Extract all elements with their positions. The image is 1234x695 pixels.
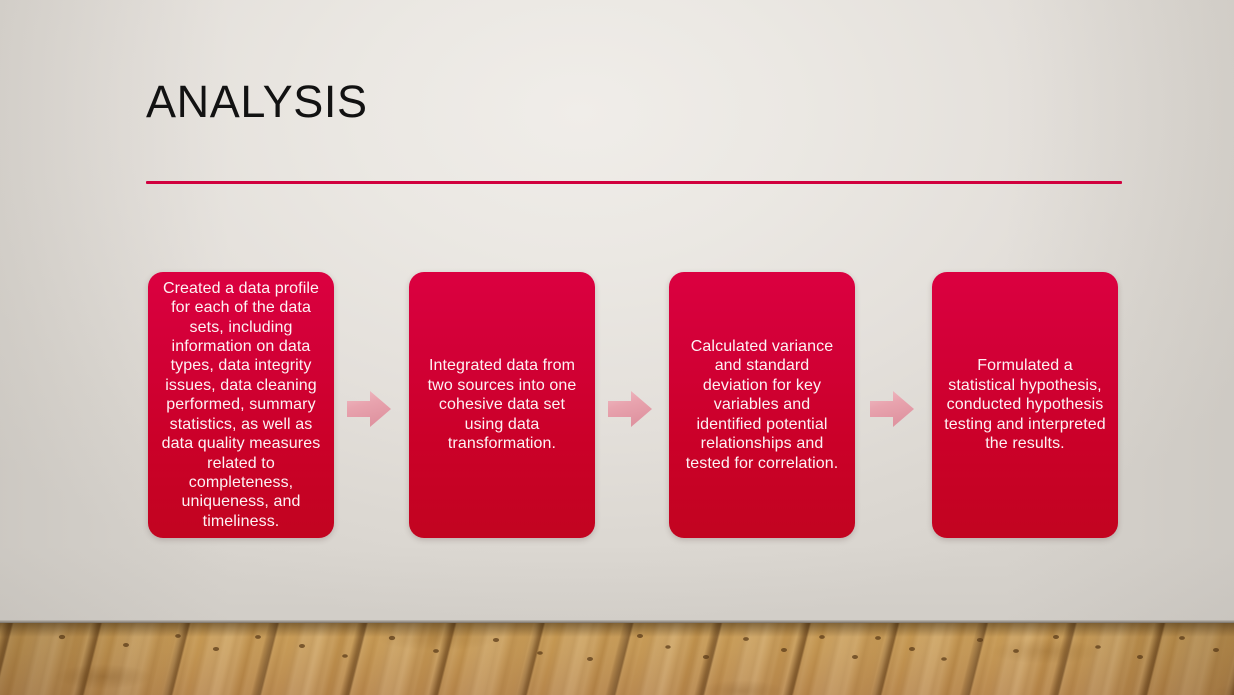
process-step-text-2: Integrated data from two sources into on… [421, 356, 583, 453]
arrow-right-icon [869, 390, 915, 428]
process-step-box-4[interactable]: Formulated a statistical hypothesis, con… [932, 272, 1118, 538]
process-step-text-3: Calculated variance and standard deviati… [681, 337, 843, 473]
process-step-box-1[interactable]: Created a data profile for each of the d… [148, 272, 334, 538]
arrow-right-icon [607, 390, 653, 428]
process-step-box-3[interactable]: Calculated variance and standard deviati… [669, 272, 855, 538]
slide-title: ANALYSIS [146, 76, 368, 128]
process-step-text-1: Created a data profile for each of the d… [160, 279, 322, 531]
presentation-slide: ANALYSIS Created a data profile for each… [0, 0, 1234, 695]
process-step-text-4: Formulated a statistical hypothesis, con… [944, 356, 1106, 453]
floor-vignette [0, 623, 1234, 695]
slide-background-floor [0, 623, 1234, 695]
process-flow-diagram: Created a data profile for each of the d… [148, 272, 1118, 538]
arrow-right-icon [346, 390, 392, 428]
process-step-box-2[interactable]: Integrated data from two sources into on… [409, 272, 595, 538]
title-divider-rule [146, 181, 1122, 184]
